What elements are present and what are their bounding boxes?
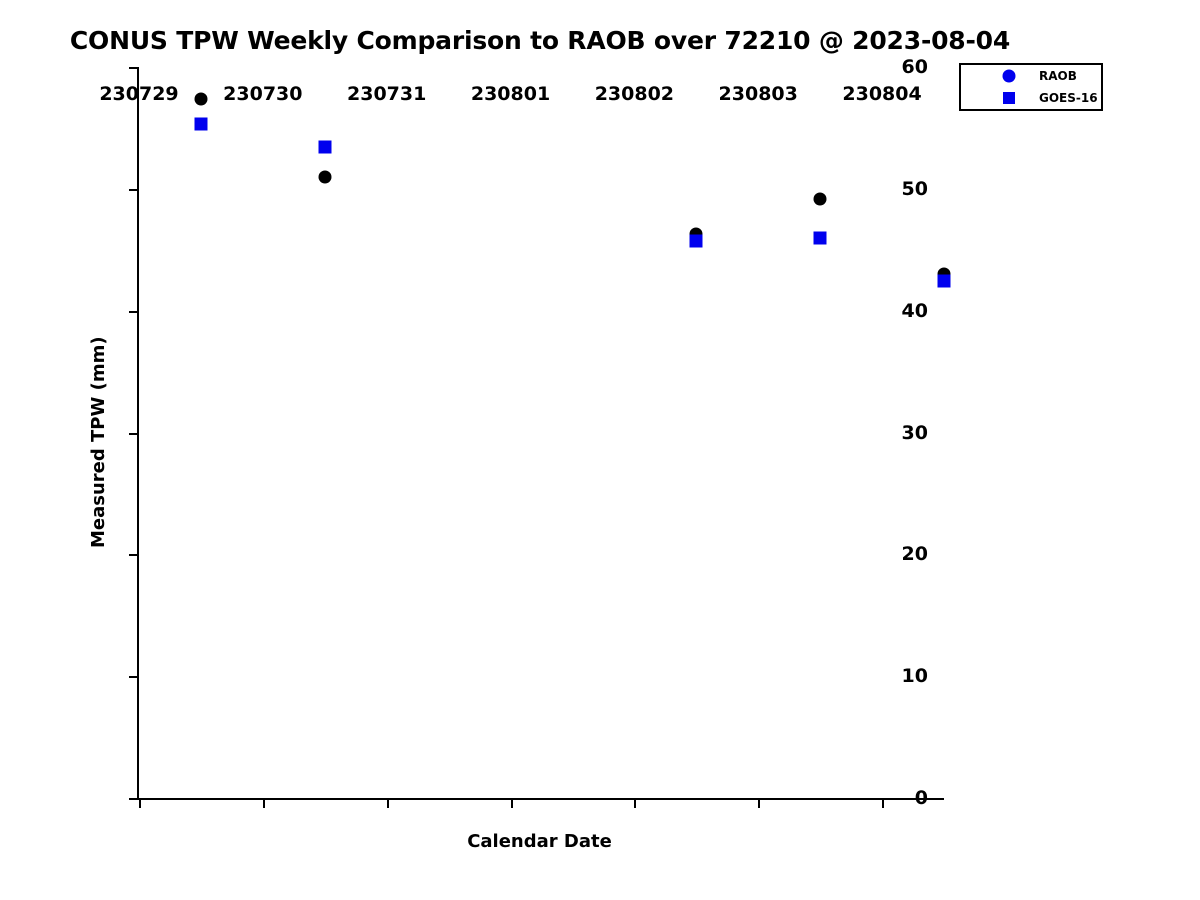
chart-legend: RAOBGOES-16 [959,63,1103,111]
legend-marker [1003,70,1016,83]
x-axis-tick-label: 230801 [471,83,550,840]
x-axis-tick-label: 230803 [719,83,798,840]
x-axis-tick-label: 230802 [595,83,674,840]
x-axis-tick-label: 230804 [842,83,921,840]
y-axis-tick-label: 60 [902,56,928,78]
y-axis-label: Measured TPW (mm) [88,336,109,548]
legend-label: GOES-16 [1039,91,1098,105]
legend-entry-goes-16[interactable]: GOES-16 [961,88,1101,108]
legend-circle-icon [999,66,1019,86]
y-axis-tick [129,67,139,69]
legend-entry-raob[interactable]: RAOB [961,66,1101,86]
chart-figure: CONUS TPW Weekly Comparison to RAOB over… [0,0,1200,900]
data-point-goes-16 [814,231,827,244]
x-axis-tick-label: 230731 [347,83,426,840]
data-point-goes-16 [690,235,703,248]
data-point-raob [318,170,331,183]
plot-area: 0102030405060230729230730230731230801230… [137,67,944,800]
x-axis-tick-label: 230729 [99,83,178,840]
data-point-raob [194,92,207,105]
data-point-goes-16 [318,141,331,154]
legend-square-icon [999,88,1019,108]
data-point-goes-16 [938,275,951,288]
data-point-goes-16 [194,118,207,131]
x-axis-label: Calendar Date [137,831,942,852]
data-point-raob [814,192,827,205]
legend-label: RAOB [1039,69,1077,83]
legend-marker [1003,92,1015,104]
chart-title: CONUS TPW Weekly Comparison to RAOB over… [0,26,1080,55]
x-axis-tick-label: 230730 [223,83,302,840]
